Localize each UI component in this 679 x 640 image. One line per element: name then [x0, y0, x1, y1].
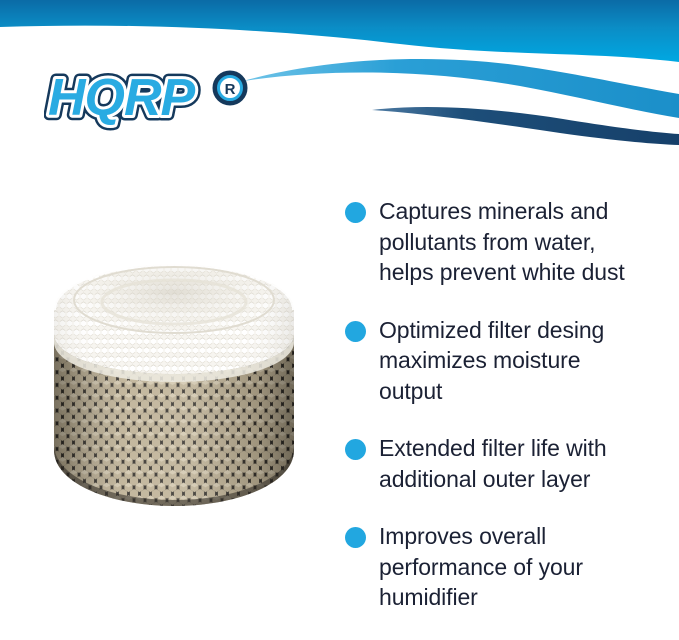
feature-item-extended-life: Extended filter life with additional out…	[345, 433, 679, 494]
wave-secondary-cyan-ribbon	[243, 59, 679, 118]
svg-text:R: R	[225, 81, 236, 98]
product-image-humidifier-filter	[24, 238, 324, 534]
brand-logo-wordmark: HQRP HQRP HQRP	[48, 69, 196, 127]
logo-fill-layer: HQRP	[48, 69, 196, 127]
bullet-dot-icon	[345, 321, 366, 342]
feature-item-improves-performance: Improves overall performance of your hum…	[345, 521, 679, 613]
bullet-dot-icon	[345, 439, 366, 460]
feature-text: Captures minerals and pollutants from wa…	[379, 196, 679, 288]
wave-accent-navy-ribbon	[372, 107, 679, 145]
bullet-dot-icon	[345, 202, 366, 223]
feature-item-captures-minerals: Captures minerals and pollutants from wa…	[345, 196, 679, 288]
wave-primary-blue-band	[0, 0, 679, 62]
feature-text: Optimized filter desing maximizes moistu…	[379, 315, 679, 407]
feature-text: Extended filter life with additional out…	[379, 433, 679, 494]
feature-list: Captures minerals and pollutants from wa…	[345, 196, 679, 640]
brand-logo: HQRP HQRP HQRP R	[44, 63, 259, 135]
feature-item-optimized-design: Optimized filter desing maximizes moistu…	[345, 315, 679, 407]
registered-trademark-icon: R	[215, 73, 245, 103]
bullet-dot-icon	[345, 527, 366, 548]
feature-text: Improves overall performance of your hum…	[379, 521, 679, 613]
